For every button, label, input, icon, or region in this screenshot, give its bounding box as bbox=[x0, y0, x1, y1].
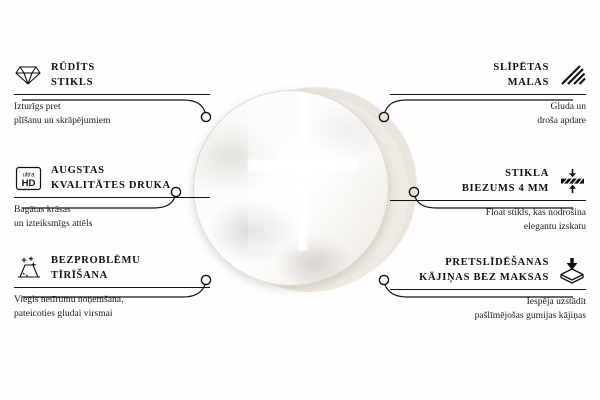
feature-header: BEZPROBLĒMU TĪRĪŠANA bbox=[14, 253, 210, 283]
ultra-hd-bottom-label: HD bbox=[21, 178, 35, 189]
feature-title: AUGSTAS KVALITĀTES DRUKA bbox=[51, 163, 171, 193]
disc-rim bbox=[193, 90, 389, 286]
feature-description: Viegls netīrumu noņemšana, pateicoties g… bbox=[14, 293, 210, 320]
feature-description: Float stikls, kas nodrošina elegantu izs… bbox=[390, 206, 586, 233]
feature-easy-cleaning: BEZPROBLĒMU TĪRĪŠANA Viegls netīrumu noņ… bbox=[14, 253, 210, 321]
feature-tempered-glass: RŪDĪTS STIKLS Izturīgs pret plīšanu un s… bbox=[14, 60, 210, 128]
feature-description: Gluda un droša apdare bbox=[390, 100, 586, 127]
feature-high-quality-print: ultra HD AUGSTAS KVALITĀTES DRUKA Bagāta… bbox=[14, 163, 210, 231]
feature-header: RŪDĪTS STIKLS bbox=[14, 60, 210, 90]
feature-description: Izturīgs pret plīšanu un skrāpējumiem bbox=[14, 100, 210, 127]
hatched-edge-icon bbox=[558, 62, 586, 88]
feature-divider bbox=[14, 287, 210, 288]
feature-divider bbox=[390, 289, 586, 290]
feature-title: SLĪPĒTAS MALAS bbox=[493, 60, 549, 90]
feature-header: PRETSLĪDĒŠANAS KĀJIŅAS BEZ MAKSAS bbox=[390, 255, 586, 285]
thickness-arrows-icon bbox=[558, 168, 586, 194]
feature-header: ultra HD AUGSTAS KVALITĀTES DRUKA bbox=[14, 163, 210, 193]
feature-title: STIKLA BIEZUMS 4 MM bbox=[462, 166, 549, 196]
feature-title: RŪDĪTS STIKLS bbox=[51, 60, 95, 90]
press-pad-icon bbox=[558, 257, 586, 283]
product-image bbox=[175, 78, 425, 323]
feature-description: Bagātas krāsas un izteiksmīgs attēls bbox=[14, 203, 210, 230]
feature-anti-slip-feet: PRETSLĪDĒŠANAS KĀJIŅAS BEZ MAKSAS Iespēj… bbox=[390, 255, 586, 323]
feature-description: Iespēja uzstādīt pašlīmējošas gumijas kā… bbox=[390, 295, 586, 322]
feature-title: PRETSLĪDĒŠANAS KĀJIŅAS BEZ MAKSAS bbox=[419, 255, 549, 285]
product-infographic: RŪDĪTS STIKLS Izturīgs pret plīšanu un s… bbox=[0, 0, 600, 400]
feature-divider bbox=[14, 197, 210, 198]
feature-header: SLĪPĒTAS MALAS bbox=[390, 60, 586, 90]
ultra-hd-icon: ultra HD bbox=[14, 165, 42, 191]
feature-divider bbox=[14, 94, 210, 95]
feature-glass-thickness: STIKLA BIEZUMS 4 MM Float stikls, kas no… bbox=[390, 166, 586, 234]
feature-header: STIKLA BIEZUMS 4 MM bbox=[390, 166, 586, 196]
glass-board-disc bbox=[193, 90, 389, 286]
feature-title: BEZPROBLĒMU TĪRĪŠANA bbox=[51, 253, 140, 283]
feature-divider bbox=[390, 200, 586, 201]
sparkle-clean-icon bbox=[14, 255, 42, 281]
feature-divider bbox=[390, 94, 586, 95]
feature-polished-edges: SLĪPĒTAS MALAS Gluda un droša apdare bbox=[390, 60, 586, 128]
diamond-icon bbox=[14, 62, 42, 88]
